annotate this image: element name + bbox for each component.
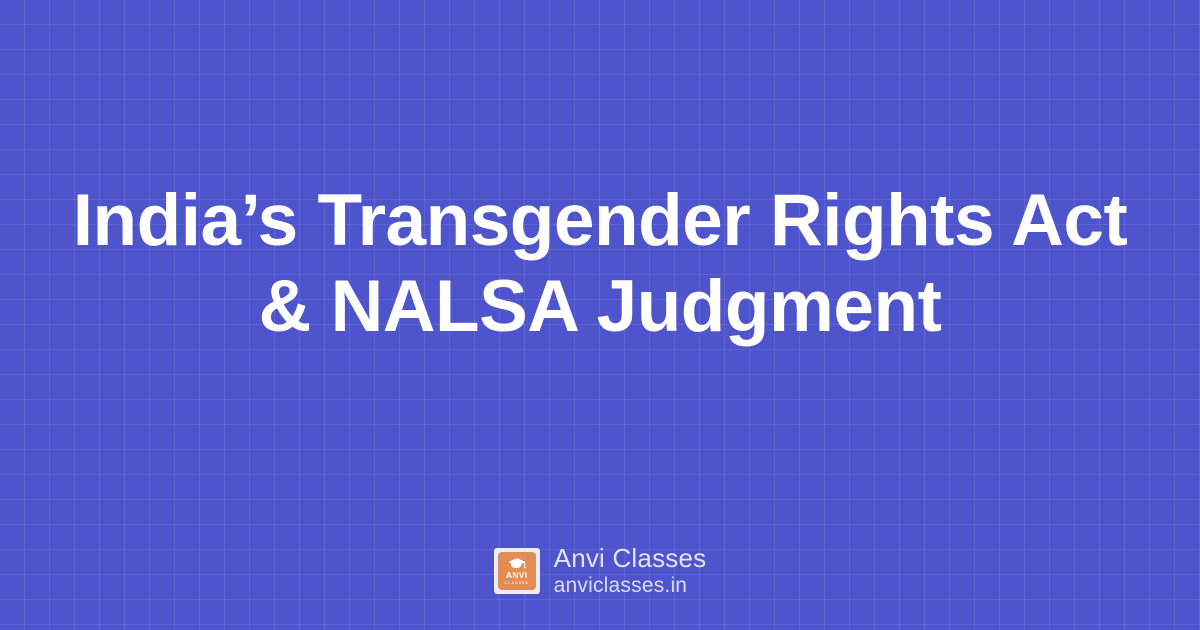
logo-subtext: CLASSES: [504, 580, 529, 585]
graduation-cap-icon: [507, 557, 527, 570]
card-content: India’s Transgender Rights Act & NALSA J…: [0, 0, 1200, 630]
share-card: India’s Transgender Rights Act & NALSA J…: [0, 0, 1200, 630]
page-title: India’s Transgender Rights Act & NALSA J…: [50, 178, 1150, 350]
brand-name: Anvi Classes: [554, 543, 707, 573]
title-line-1: India’s Transgender Rights Act: [50, 178, 1150, 264]
anvi-logo-tile: ANVI CLASSES: [498, 552, 536, 590]
logo-frame: ANVI CLASSES: [494, 548, 540, 594]
brand-footer: ANVI CLASSES Anvi Classes anviclasses.in: [0, 543, 1200, 598]
brand-text-block: Anvi Classes anviclasses.in: [554, 543, 707, 598]
title-line-2: & NALSA Judgment: [50, 264, 1150, 350]
logo-wordmark: ANVI: [506, 571, 528, 580]
brand-url: anviclasses.in: [554, 573, 707, 598]
